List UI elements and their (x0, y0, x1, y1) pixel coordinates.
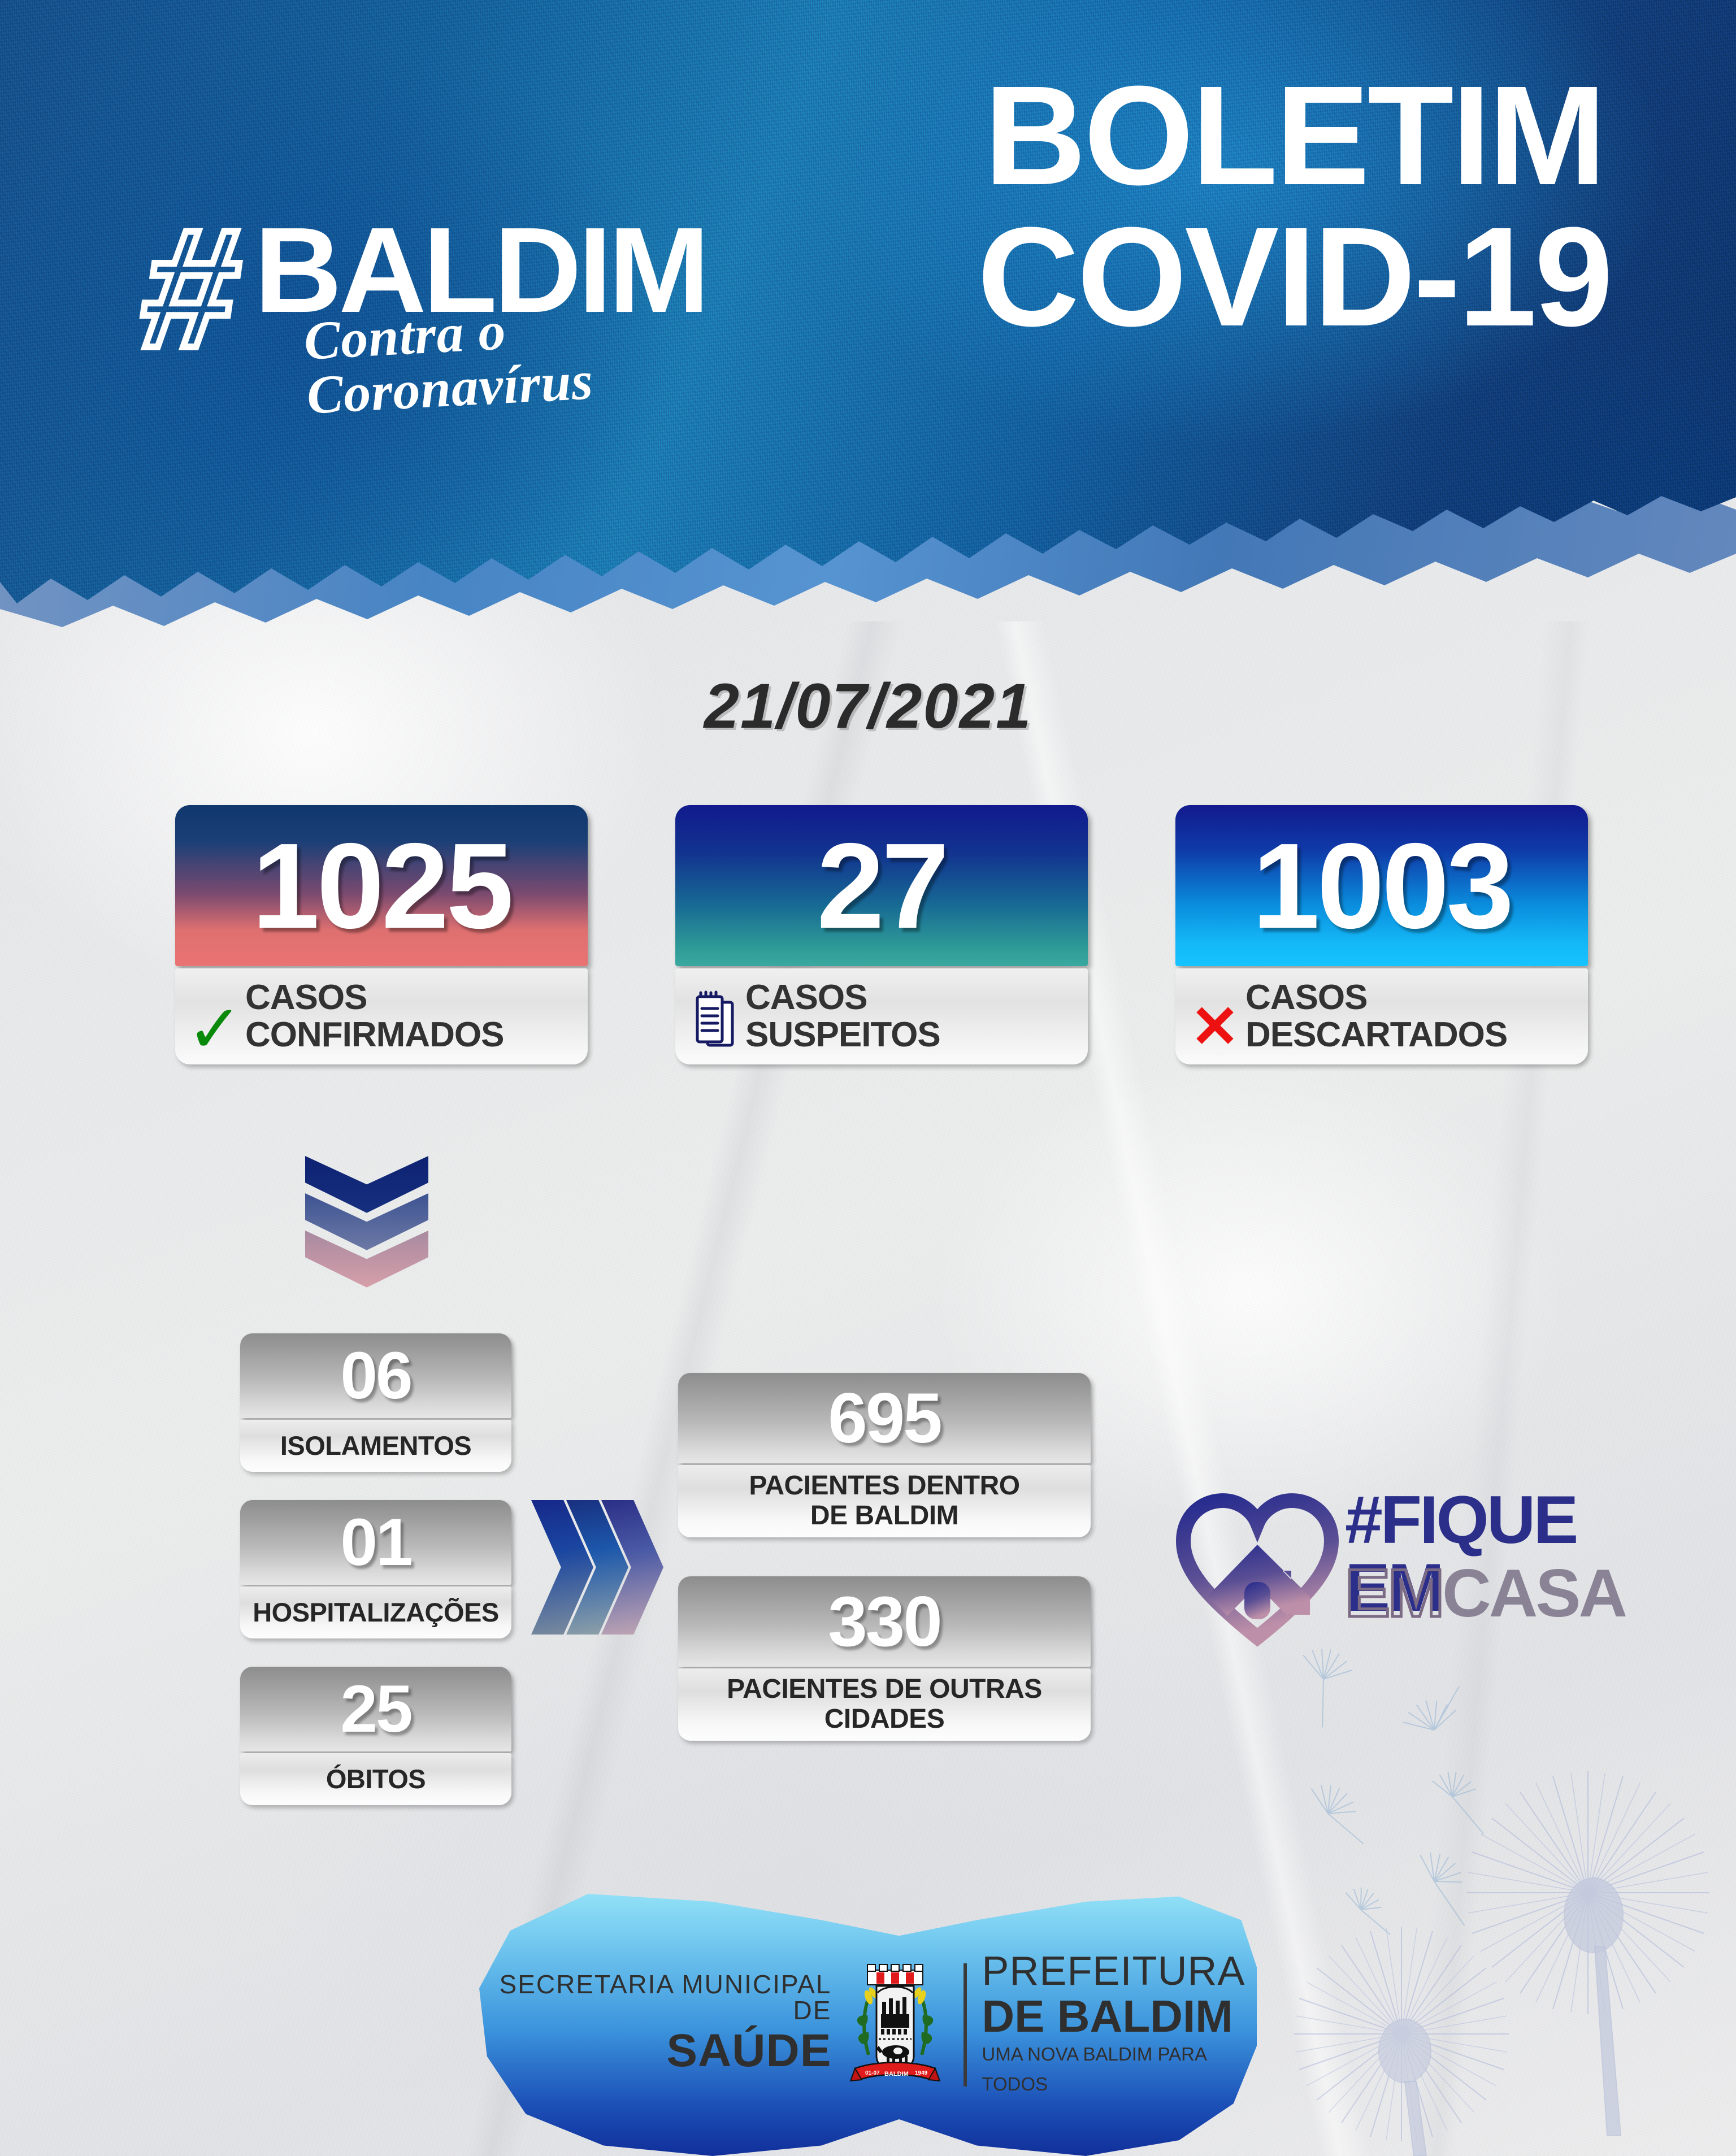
title-line-1: BOLETIM (984, 56, 1604, 214)
bulletin-date: 21/07/2021 (0, 670, 1736, 742)
deaths-label: ÓBITOS (326, 1764, 426, 1794)
notepad-icon (684, 990, 745, 1050)
x-glyph: ✕ (1190, 1004, 1239, 1051)
footer-logos: SECRETARIA MUNICIPAL DE SAÚDE (479, 1894, 1257, 2156)
hospitalizations-label-box: HOSPITALIZAÇÕES (240, 1586, 511, 1638)
deaths-number-box: 25 (240, 1667, 511, 1751)
baldim-brand-logo: # BALDIM Contra o Coronavírus (138, 186, 754, 373)
discarded-label-box: ✕ CASOS DESCARTADOS (1175, 968, 1588, 1064)
patients-in-baldim-number-box: 695 (678, 1373, 1091, 1463)
isolations-number-box: 06 (240, 1333, 511, 1418)
crest-ribbon-center: BALDIM (884, 2071, 909, 2077)
confirmed-label: CASOS CONFIRMADOS (245, 979, 504, 1053)
patients-in-baldim-value: 695 (828, 1383, 941, 1454)
footer-divider (964, 1963, 967, 2087)
prefeitura-tagline: UMA NOVA BALDIM PARA TODOS (982, 2040, 1257, 2100)
chevron-right-icon (531, 1500, 678, 1636)
hospitalizations-label: HOSPITALIZAÇÕES (253, 1598, 499, 1627)
covid-bulletin-poster: # BALDIM Contra o Coronavírus BOLETIM CO… (0, 0, 1736, 2156)
hospitalizations-value: 01 (340, 1509, 411, 1576)
dandelion-decoration (1283, 1627, 1736, 2156)
stat-card-suspected: 27 CASOS SUSPEITOS (675, 805, 1088, 1144)
stay-home-em: EM (1345, 1555, 1442, 1631)
suspected-value: 27 (817, 825, 946, 946)
patients-in-baldim-label: PACIENTES DENTRO DE BALDIM (749, 1471, 1019, 1531)
secretaria-line-1: SECRETARIA MUNICIPAL DE (479, 1971, 831, 2023)
confirmed-label-line-1: CASOS (245, 979, 504, 1016)
crest-ribbon-left: 01-07 (865, 2070, 880, 2076)
discarded-value: 1003 (1252, 825, 1511, 946)
hashtag-icon: # (132, 203, 250, 373)
prefeitura-line-2: DE BALDIM (982, 1993, 1257, 2040)
patients-other-cities-label-box: PACIENTES DE OUTRAS CIDADES (678, 1668, 1091, 1741)
suspected-label-box: CASOS SUSPEITOS (675, 968, 1088, 1064)
check-icon: ✓ (184, 990, 245, 1043)
patients-other-cities-value: 330 (828, 1586, 941, 1657)
stat-card-deaths: 25 ÓBITOS (240, 1667, 511, 1805)
stay-home-line-2: EMCASA (1345, 1559, 1625, 1627)
isolations-value: 06 (340, 1342, 411, 1409)
secretaria-line-2: SAÚDE (479, 2023, 831, 2079)
patients-other-cities-line-2: CIDADES (824, 1704, 945, 1734)
city-crest-icon: 01-07 BALDIM 1949 (841, 1960, 949, 2090)
title-line-2: COVID-19 (882, 206, 1707, 347)
isolations-label-box: ISOLAMENTOS (240, 1420, 511, 1472)
stay-home-casa: CASA (1442, 1555, 1625, 1631)
stat-card-discarded: 1003 ✕ CASOS DESCARTADOS (1175, 805, 1588, 1144)
stat-card-hospitalizations: 01 HOSPITALIZAÇÕES (240, 1500, 511, 1638)
discarded-label-line-1: CASOS (1245, 979, 1507, 1016)
city-hall-text: PREFEITURA DE BALDIM UMA NOVA BALDIM PAR… (982, 1950, 1257, 2100)
stat-card-patients-in-baldim: 695 PACIENTES DENTRO DE BALDIM (678, 1373, 1091, 1537)
chevron-down-icon (305, 1156, 429, 1309)
patients-in-baldim-line-2: DE BALDIM (810, 1501, 958, 1531)
patients-other-cities-label: PACIENTES DE OUTRAS CIDADES (727, 1675, 1042, 1735)
stat-card-isolations: 06 ISOLAMENTOS (240, 1333, 511, 1472)
check-glyph: ✓ (187, 1002, 243, 1055)
stat-card-patients-other-cities: 330 PACIENTES DE OUTRAS CIDADES (678, 1576, 1091, 1741)
prefeitura-line-1: PREFEITURA (982, 1950, 1257, 1993)
confirmed-number-box: 1025 (175, 805, 588, 966)
deaths-value: 25 (340, 1676, 411, 1742)
deaths-label-box: ÓBITOS (240, 1753, 511, 1805)
confirmed-label-box: ✓ CASOS CONFIRMADOS (175, 968, 588, 1064)
crest-ribbon-right: 1949 (915, 2070, 928, 2076)
discarded-label: CASOS DESCARTADOS (1245, 979, 1507, 1053)
close-icon: ✕ (1184, 993, 1245, 1040)
heart-house-icon (1175, 1486, 1339, 1650)
patients-in-baldim-line-1: PACIENTES DENTRO (749, 1471, 1019, 1501)
confirmed-label-line-2: CONFIRMADOS (245, 1016, 504, 1054)
isolations-label: ISOLAMENTOS (280, 1431, 471, 1460)
stat-card-confirmed: 1025 ✓ CASOS CONFIRMADOS (175, 805, 588, 1144)
health-department-text: SECRETARIA MUNICIPAL DE SAÚDE (479, 1971, 841, 2079)
discarded-number-box: 1003 (1175, 805, 1588, 966)
patients-other-cities-line-1: PACIENTES DE OUTRAS (727, 1674, 1042, 1704)
notepad-icon-svg (693, 990, 737, 1050)
patients-in-baldim-label-box: PACIENTES DENTRO DE BALDIM (678, 1465, 1091, 1537)
suspected-label-line-2: SUSPEITOS (745, 1016, 940, 1054)
discarded-label-line-2: DESCARTADOS (1245, 1016, 1507, 1054)
suspected-label: CASOS SUSPEITOS (745, 979, 940, 1053)
hospitalizations-number-box: 01 (240, 1500, 511, 1585)
suspected-number-box: 27 (675, 805, 1088, 966)
suspected-label-line-1: CASOS (745, 979, 940, 1016)
confirmed-value: 1025 (252, 825, 511, 946)
main-stats-row: 1025 ✓ CASOS CONFIRMADOS 27 (175, 805, 1588, 1144)
patients-other-cities-number-box: 330 (678, 1576, 1091, 1667)
page-title: BOLETIM COVID-19 (882, 65, 1707, 347)
